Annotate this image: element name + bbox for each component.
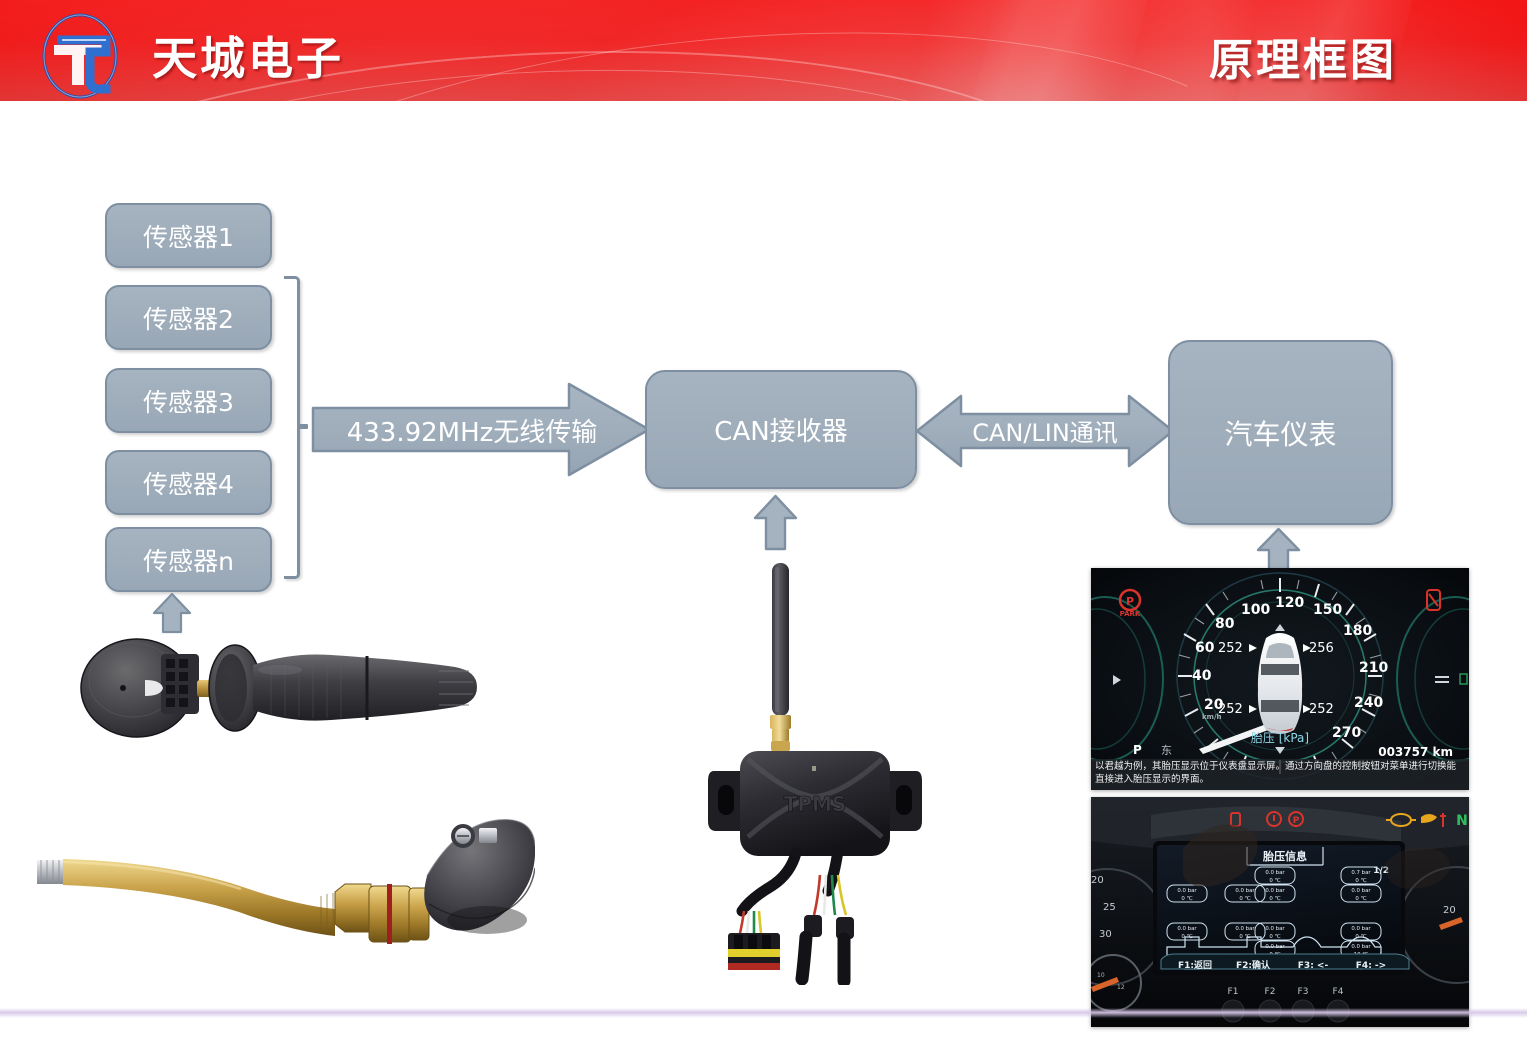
svg-text:0 ℃: 0 ℃ (1269, 896, 1280, 902)
svg-text:20: 20 (1091, 875, 1104, 886)
svg-text:P: P (1293, 816, 1300, 826)
tire-pressure-caption: 胎压 [kPa] (1251, 731, 1309, 745)
compass-indicator: 东 (1161, 744, 1172, 757)
svg-text:0 ℃: 0 ℃ (1269, 934, 1280, 940)
softkey-f2: F2:确认 (1236, 959, 1271, 971)
softkey-f4: F4: -> (1356, 961, 1386, 971)
svg-text:25: 25 (1103, 902, 1116, 913)
svg-text:0.0 bar: 0.0 bar (1177, 926, 1197, 932)
header-banner: 天城电子 原理框图 (0, 0, 1527, 101)
tire-pressure-rear-right: 252 (1309, 702, 1334, 717)
tick-270: 270 (1332, 725, 1361, 741)
park-label: PARK (1120, 610, 1141, 618)
svg-text:0 ℃: 0 ℃ (1269, 878, 1280, 884)
slide-root: 天城电子 原理框图 传感器1 传感器2 传感器3 传感器4 传感器n 433.9… (0, 0, 1527, 1050)
instrument-cluster-photo: 20 40 60 80 100 120 150 180 210 240 270 … (1091, 568, 1469, 790)
banner-shine-1 (972, 0, 1147, 101)
svg-text:0 ℃: 0 ℃ (1355, 896, 1366, 902)
sensor-box-3[interactable]: 传感器3 (105, 368, 272, 433)
svg-text:0.0 bar: 0.0 bar (1265, 926, 1285, 932)
svg-text:0 ℃: 0 ℃ (1239, 896, 1250, 902)
button-label-f4: F4 (1333, 987, 1344, 997)
tick-150: 150 (1313, 602, 1342, 618)
gear-indicator: P (1133, 743, 1142, 757)
svg-text:30: 30 (1099, 929, 1112, 940)
svg-text:0.0 bar: 0.0 bar (1265, 870, 1285, 876)
svg-text:0.0 bar: 0.0 bar (1235, 926, 1255, 932)
footer-ghost-text (28, 1022, 288, 1050)
sensor-box-1[interactable]: 传感器1 (105, 203, 272, 268)
tick-180: 180 (1343, 623, 1372, 639)
svg-text:0.0 bar: 0.0 bar (1351, 944, 1371, 950)
truck-tpms-screen-photo: P N 202530 1012 20 (1091, 797, 1469, 1027)
sensor-box-4[interactable]: 传感器4 (105, 450, 272, 515)
svg-text:0.0 bar: 0.0 bar (1177, 888, 1197, 894)
odometer: 003757 km (1378, 745, 1453, 759)
sensor-box-2[interactable]: 传感器2 (105, 285, 272, 350)
svg-text:0.0 bar: 0.0 bar (1265, 944, 1285, 950)
tire-pressure-front-right: 256 (1309, 641, 1334, 656)
company-logo-icon (36, 11, 124, 101)
svg-text:0 ℃: 0 ℃ (1355, 934, 1366, 940)
gear-n-indicator: N (1456, 813, 1468, 829)
receiver-up-arrow-icon (752, 494, 799, 551)
tick-80: 80 (1215, 616, 1235, 632)
tire-pressure-rear-left: 252 (1218, 702, 1243, 717)
sensor-box-n[interactable]: 传感器n (105, 527, 272, 592)
svg-text:0.0 bar: 0.0 bar (1235, 888, 1255, 894)
rf-link-label: 433.92MHz无线传输 (338, 412, 606, 449)
svg-text:0.0 bar: 0.0 bar (1351, 926, 1371, 932)
tpms-snap-in-sensor-photo (75, 618, 495, 758)
tpms-receiver-module-photo: TPMS (700, 545, 930, 985)
svg-text:0 ℃: 0 ℃ (1181, 934, 1192, 940)
svg-text:0.7 bar: 0.7 bar (1351, 870, 1371, 876)
softkey-f1: F1:返回 (1178, 959, 1212, 971)
bus-link-arrow: CAN/LIN通讯 (915, 392, 1175, 470)
footer-band (0, 1008, 1527, 1018)
tick-240: 240 (1354, 695, 1383, 711)
svg-text:20: 20 (1443, 905, 1456, 916)
tick-60: 60 (1195, 640, 1215, 656)
sensor-group-bracket-stub (297, 424, 308, 429)
slide-title: 原理框图 (1209, 24, 1397, 88)
rf-link-arrow: 433.92MHz无线传输 (311, 378, 652, 481)
automotive-instrument-box[interactable]: 汽车仪表 (1168, 340, 1393, 525)
svg-text:0.0 bar: 0.0 bar (1265, 888, 1285, 894)
cluster-caption: 以君越为例，其胎压显示位于仪表盘显示屏。通过方向盘的控制按钮对菜单进行切换能直接… (1091, 759, 1469, 790)
tick-100: 100 (1241, 602, 1270, 618)
softkey-f3: F3: <- (1298, 961, 1329, 971)
can-receiver-box[interactable]: CAN接收器 (645, 370, 917, 489)
svg-text:0 ℃: 0 ℃ (1239, 934, 1250, 940)
park-p-icon: P (1126, 595, 1134, 608)
truck-screen-title: 胎压信息 (1262, 849, 1307, 863)
svg-text:0.0 bar: 0.0 bar (1351, 888, 1371, 894)
bus-link-label: CAN/LIN通讯 (949, 413, 1141, 448)
tire-pressure-front-left: 252 (1218, 641, 1243, 656)
receiver-module-label: TPMS (784, 792, 847, 816)
tpms-clamp-in-sensor-photo (35, 780, 535, 1000)
tick-40: 40 (1192, 668, 1212, 684)
tick-120: 120 (1275, 595, 1304, 611)
button-label-f3: F3 (1298, 987, 1309, 997)
svg-text:0 ℃: 0 ℃ (1181, 896, 1192, 902)
svg-text:10: 10 (1097, 972, 1105, 979)
svg-text:0 ℃: 0 ℃ (1355, 878, 1366, 884)
svg-text:12: 12 (1117, 984, 1125, 991)
button-label-f2: F2 (1265, 987, 1276, 997)
button-label-f1: F1 (1228, 987, 1239, 997)
brand-name: 天城电子 (152, 22, 344, 87)
tick-210: 210 (1359, 660, 1388, 676)
